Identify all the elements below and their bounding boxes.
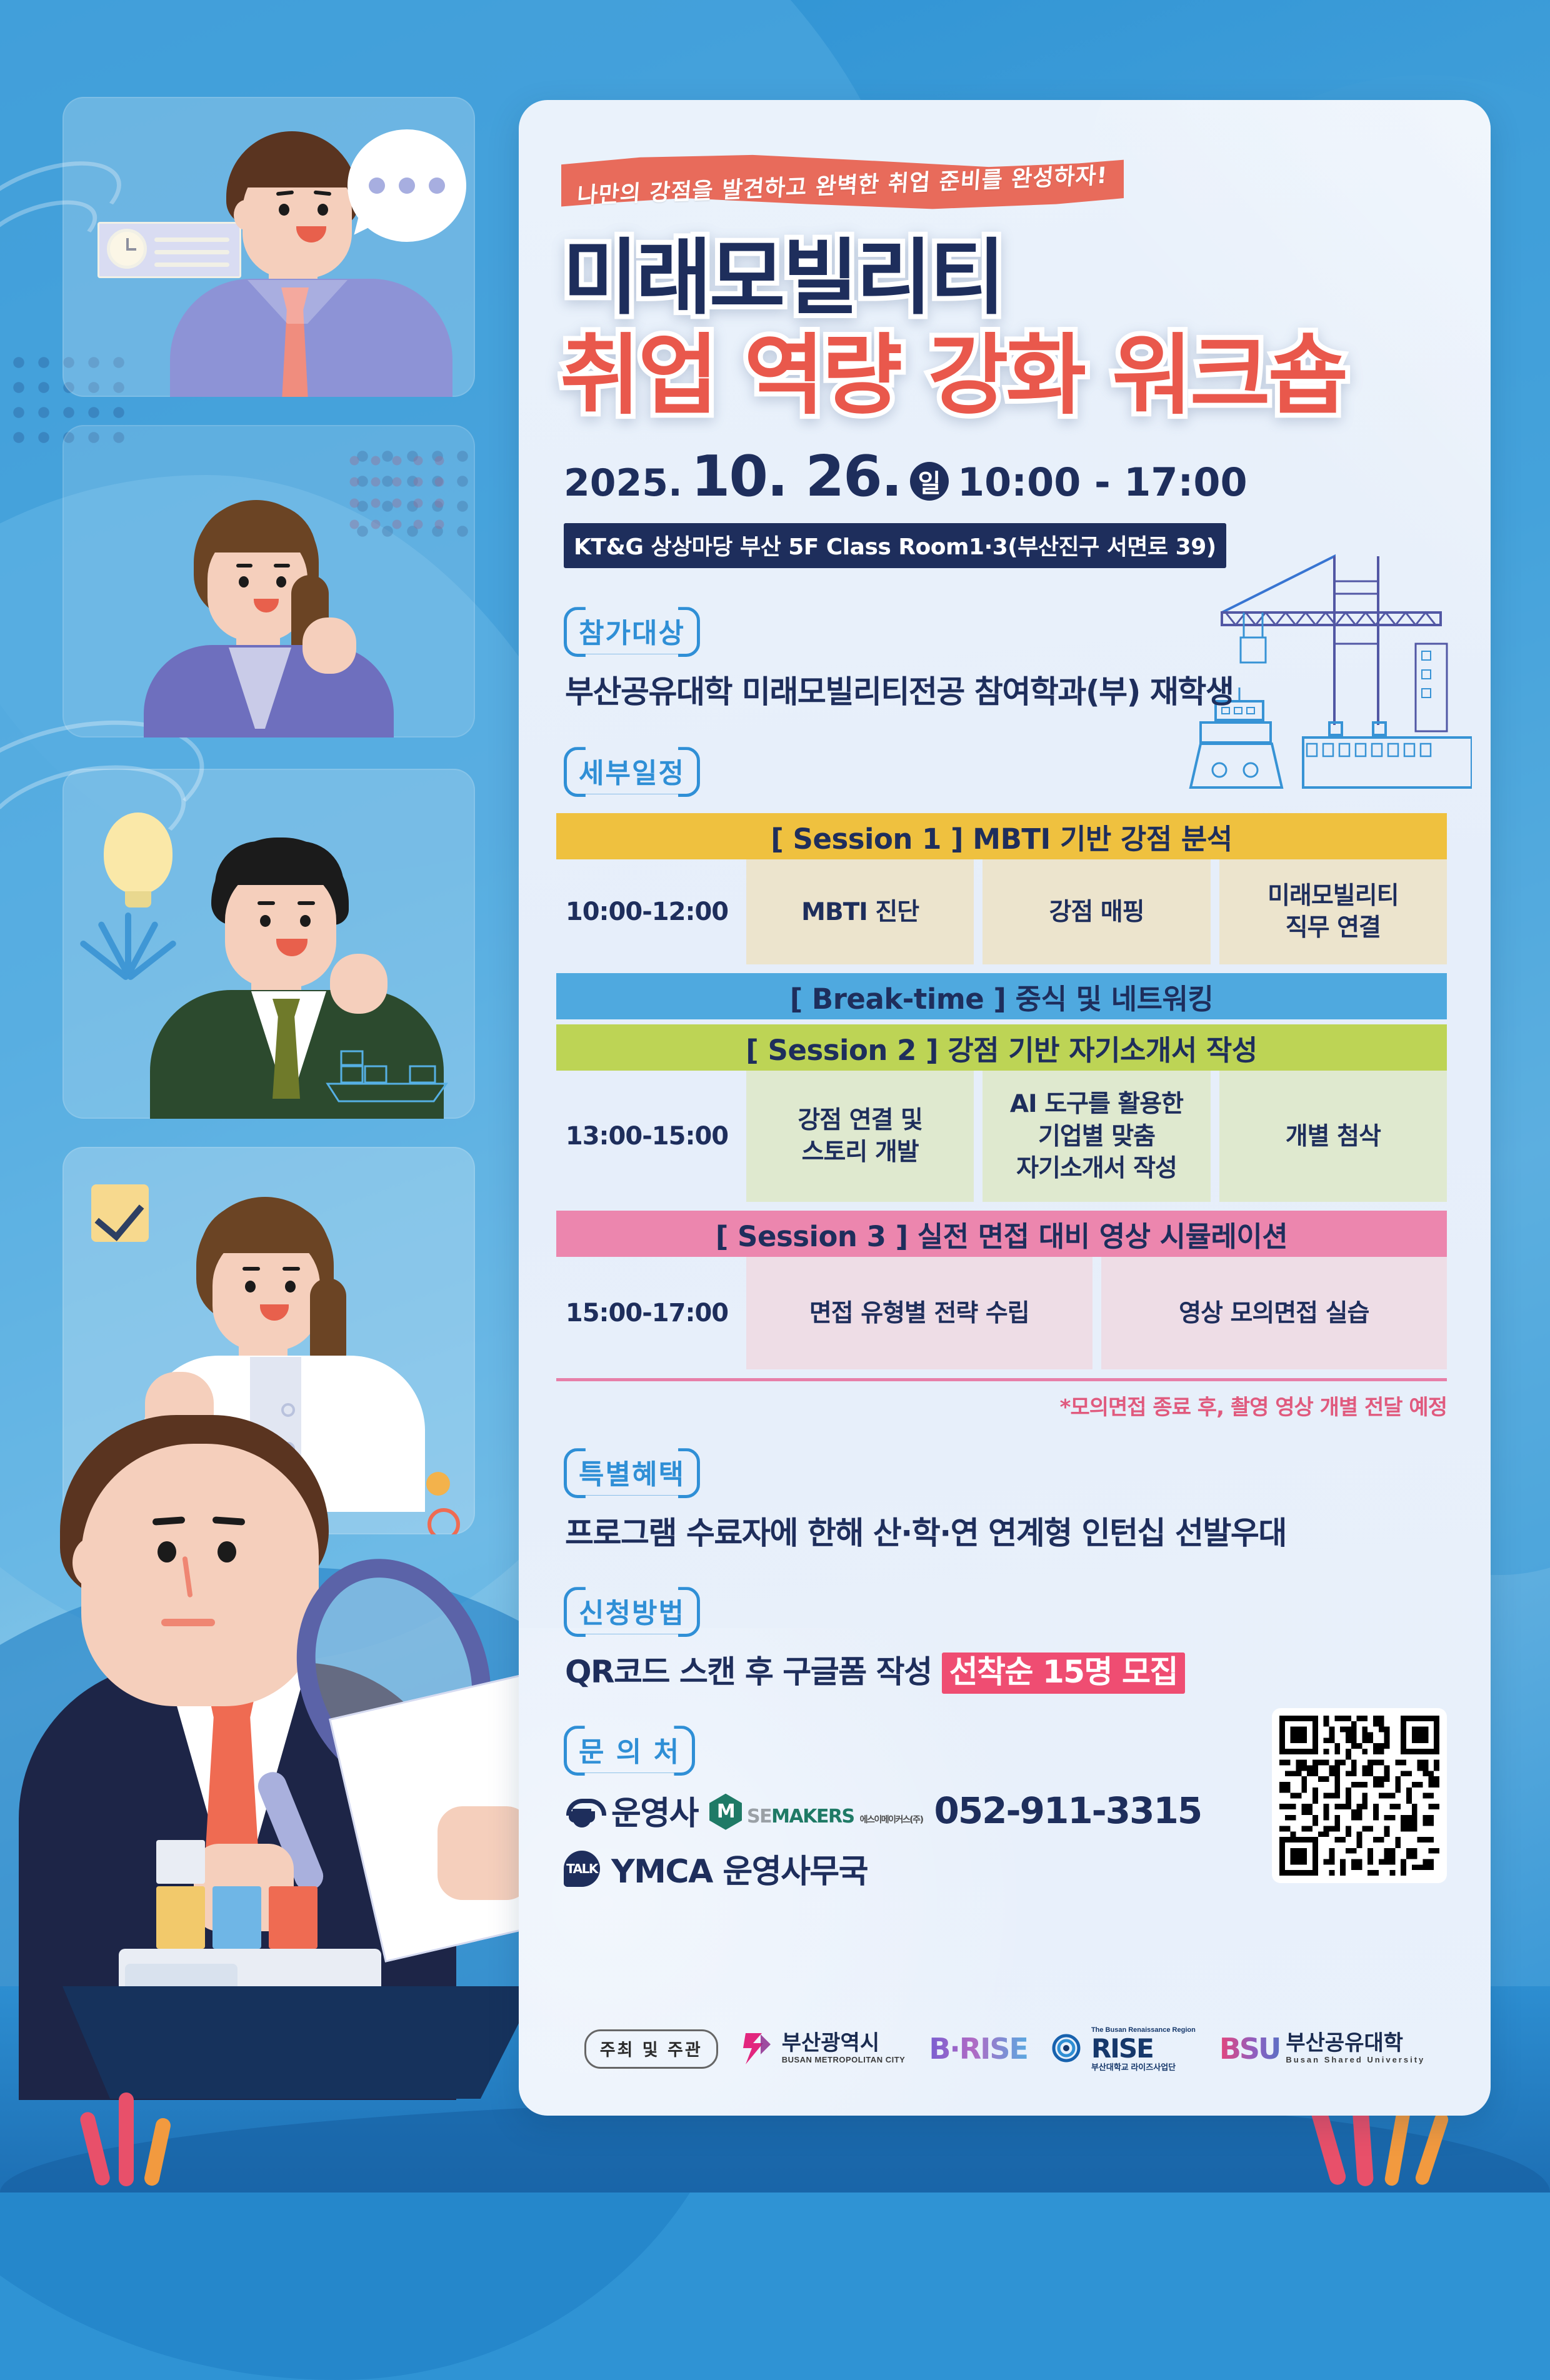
logo-bsu-name: 부산공유대학 — [1286, 2031, 1403, 2056]
schedule-time-1: 10:00-12:00 — [556, 859, 737, 964]
schedule-band-breaktime: [ Break-time ] 중식 및 네트워킹 — [556, 973, 1447, 1019]
schedule-note: *모의면접 종료 후, 촬영 영상 개별 전달 예정 — [556, 1390, 1447, 1421]
avatar-woman-purple-suit — [169, 500, 394, 737]
rise-swirl-icon — [1051, 2031, 1085, 2067]
schedule-cell: 면접 유형별 전략 수립 — [746, 1257, 1092, 1369]
table-row: 13:00-15:00 강점 연결 및 스토리 개발 AI 도구를 활용한 기업… — [556, 1071, 1447, 1202]
section-chip-schedule: 세부일정 — [564, 747, 700, 797]
schedule-band-session1: [ Session 1 ] MBTI 기반 강점 분석 — [556, 813, 1447, 859]
page-title-line2: 취업 역량 강화 워크숍 — [560, 330, 1458, 422]
ship-hull — [62, 1986, 537, 2099]
kakao-talk-icon: TALK — [564, 1851, 600, 1887]
schedule-band-session3: [ Session 3 ] 실전 면접 대비 영상 시뮬레이션 — [556, 1211, 1447, 1257]
logo-bsu-mark: BSU — [1219, 2032, 1280, 2066]
event-month-day: 10. 26. — [691, 444, 901, 509]
semakers-badge: M — [709, 1794, 742, 1830]
logo-rise-name: RISE — [1091, 2033, 1153, 2064]
schedule-table: [ Session 1 ] MBTI 기반 강점 분석 10:00-12:00 … — [556, 813, 1447, 1421]
schedule-cell: 영상 모의면접 실습 — [1101, 1257, 1447, 1369]
section-chip-apply: 신청방법 — [564, 1587, 700, 1637]
logo-rise-sub: 부산대학교 라이즈사업단 — [1091, 2062, 1176, 2072]
benefit-text: 프로그램 수료자에 한해 산·학·연 연계형 인턴십 선발우대 — [565, 1508, 1458, 1553]
semakers-logo-makers: MAKERS — [771, 1806, 854, 1827]
event-year: 2025. — [564, 461, 682, 505]
schedule-cell: 개별 첨삭 — [1219, 1071, 1447, 1202]
schedule-cell: MBTI 진단 — [746, 859, 974, 964]
lightbulb-icon — [104, 812, 172, 894]
logo-brise-text: B·RISE — [929, 2032, 1027, 2066]
schedule-cell: AI 도구를 활용한 기업별 맞춤 자기소개서 작성 — [982, 1071, 1210, 1202]
semakers-logo-subtitle: 에스이메이커스(주) — [860, 1815, 923, 1825]
tagline-text: 나만의 강점을 발견하고 완벽한 취업 준비를 완성하자! — [559, 143, 1126, 225]
semakers-logo: M SEMAKERS 에스이메이커스(주) — [709, 1794, 922, 1830]
event-venue: KT&G 상상마당 부산 5F Class Room1·3(부산진구 서면로 3… — [564, 523, 1226, 568]
cargo-container — [269, 1886, 317, 1949]
qr-code[interactable] — [1272, 1708, 1447, 1883]
illustration-panel-idea-man — [62, 769, 475, 1119]
apply-method-text: QR코드 스캔 후 구글폼 작성 — [565, 1654, 932, 1690]
event-time: 10:00 - 17:00 — [957, 459, 1247, 505]
target-audience-text: 부산공유대학 미래모빌리티전공 참여학과(부) 재학생 — [565, 667, 1458, 712]
checkbox-check-icon — [91, 1184, 149, 1242]
schedule-cell: 미래모빌리티 직무 연결 — [1219, 859, 1447, 964]
illustration-panel-cheering-woman — [62, 425, 475, 737]
contact-operator-label: 운영사 — [611, 1787, 698, 1834]
footer-logos: 주최 및 주관 부산광역시 BUSAN METROPOLITAN CITY B·… — [519, 2024, 1491, 2073]
tagline-ribbon: 나만의 강점을 발견하고 완벽한 취업 준비를 완성하자! — [561, 154, 1124, 214]
contact-phone-number[interactable]: 052-911-3315 — [934, 1789, 1201, 1832]
host-label: 주최 및 주관 — [584, 2029, 718, 2069]
section-chip-contact: 문 의 처 — [564, 1726, 695, 1776]
logo-bsu-sub: Busan Shared University — [1286, 2055, 1425, 2064]
busan-city-mark-icon — [742, 2031, 776, 2067]
apply-method-line: QR코드 스캔 후 구글폼 작성 선착순 15명 모집 — [565, 1647, 1458, 1692]
logo-busan-name: 부산광역시 — [782, 2031, 879, 2056]
poster-main-card: 나만의 강점을 발견하고 완벽한 취업 준비를 완성하자! 미래모빌리티 취업 … — [519, 100, 1491, 2116]
logo-rise: The Busan Renaissance Region RISE 부산대학교 … — [1051, 2024, 1196, 2073]
qr-code-image[interactable] — [1279, 1716, 1439, 1876]
event-datetime: 2025. 10. 26. 일 10:00 - 17:00 — [564, 444, 1458, 509]
illustration-panel-speaking-man: + — [62, 97, 475, 397]
contact-ymca-label: YMCA 운영사무국 — [611, 1845, 867, 1892]
section-chip-benefit: 특별혜택 — [564, 1448, 700, 1498]
phone-icon — [564, 1792, 600, 1829]
page-title-line1: 미래모빌리티 — [562, 235, 1458, 322]
schedule-divider — [556, 1378, 1447, 1381]
schedule-cell: 강점 매핑 — [982, 859, 1210, 964]
schedule-band-session2: [ Session 2 ] 강점 기반 자기소개서 작성 — [556, 1024, 1447, 1071]
schedule-time-3: 15:00-17:00 — [556, 1257, 737, 1369]
table-row: 15:00-17:00 면접 유형별 전략 수립 영상 모의면접 실습 — [556, 1257, 1447, 1369]
container-ship-line-icon — [316, 1039, 466, 1107]
apply-highlight-badge: 선착순 15명 모집 — [942, 1652, 1185, 1694]
chat-bubble-icon — [347, 129, 466, 242]
cargo-container — [156, 1886, 205, 1949]
plant-decoration — [81, 894, 181, 994]
logo-busan-metropolitan-city: 부산광역시 BUSAN METROPOLITAN CITY — [742, 2031, 906, 2067]
logo-brise: B·RISE — [929, 2032, 1027, 2066]
event-weekday-badge: 일 — [910, 462, 949, 501]
cargo-container — [156, 1840, 205, 1884]
schedule-cell: 강점 연결 및 스토리 개발 — [746, 1071, 974, 1202]
logo-bsu: BSU 부산공유대학 Busan Shared University — [1219, 2032, 1425, 2066]
table-row: 10:00-12:00 MBTI 진단 강점 매핑 미래모빌리티 직무 연결 — [556, 859, 1447, 964]
logo-busan-sub: BUSAN METROPOLITAN CITY — [782, 2055, 906, 2064]
cargo-container — [212, 1886, 261, 1949]
section-chip-target: 참가대상 — [564, 607, 700, 657]
semakers-logo-se: SE — [747, 1806, 771, 1827]
schedule-time-2: 13:00-15:00 — [556, 1071, 737, 1202]
coral-decoration — [75, 2086, 212, 2186]
